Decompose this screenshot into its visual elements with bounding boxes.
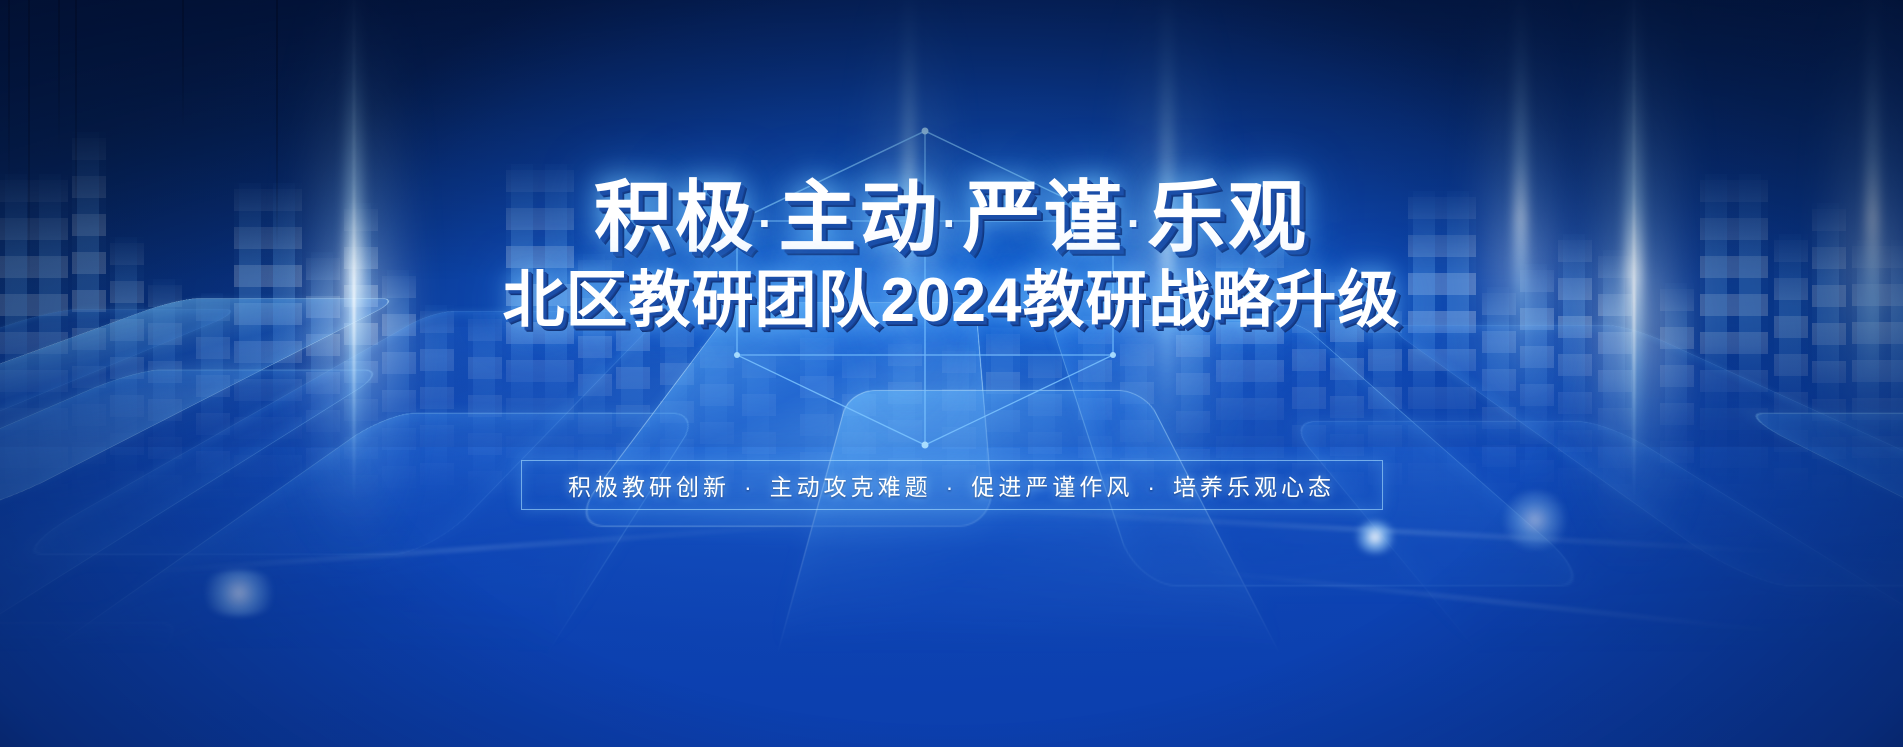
tagline-item: 积极教研创新 [568, 474, 730, 500]
ground-glow-dot-left [196, 570, 282, 616]
tagline-separator-dot-icon: · [1133, 474, 1173, 500]
banner-root: 积极·主动·严谨·乐观 北区教研团队2024教研战略升级 积极教研创新·主动攻克… [0, 0, 1903, 747]
ground-glow-dot-far-right [1500, 490, 1570, 550]
tagline-item: 主动攻克难题 [770, 474, 932, 500]
tagline-text: 积极教研创新·主动攻克难题·促进严谨作风·培养乐观心态 [568, 468, 1335, 502]
tagline-item: 促进严谨作风 [971, 474, 1133, 500]
dark-streak [75, 0, 77, 215]
dark-streak [58, 0, 60, 150]
tagline-item: 培养乐观心态 [1173, 474, 1335, 500]
tagline-frame: 积极教研创新·主动攻克难题·促进严谨作风·培养乐观心态 [521, 460, 1383, 510]
dark-streak [182, 0, 184, 130]
tagline-separator-dot-icon: · [730, 474, 770, 500]
ground-glow-dot-right [1352, 520, 1398, 554]
tagline-separator-dot-icon: · [932, 474, 972, 500]
dark-streak [8, 0, 10, 190]
